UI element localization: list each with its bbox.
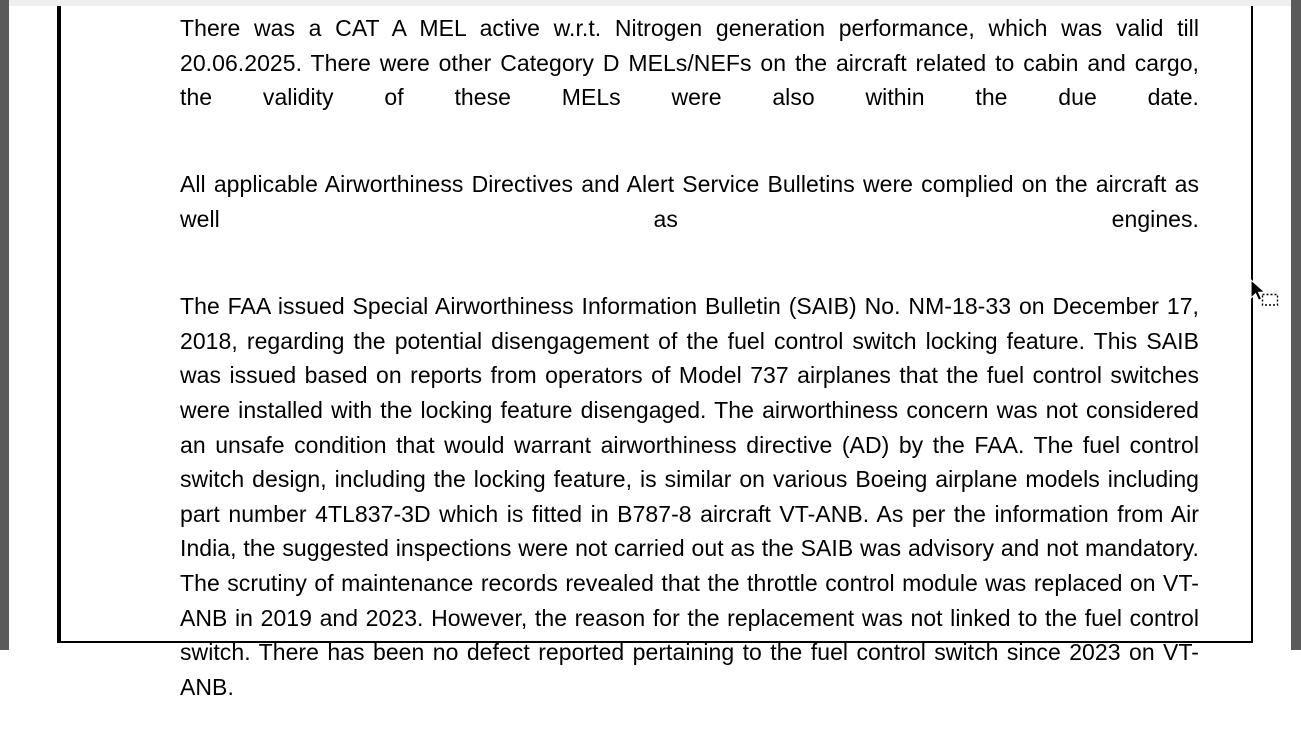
page-body: There was a CAT A MEL active w.r.t. Nitr… — [121, 6, 1251, 641]
document-page[interactable]: There was a CAT A MEL active w.r.t. Nitr… — [9, 6, 1291, 644]
content-frame: There was a CAT A MEL active w.r.t. Nitr… — [57, 6, 1253, 643]
document-viewer[interactable]: There was a CAT A MEL active w.r.t. Nitr… — [0, 0, 1301, 650]
app-background-right — [1291, 0, 1301, 650]
column-divider — [59, 6, 61, 641]
paragraph-saib: The FAA issued Special Airworthiness Inf… — [180, 289, 1199, 739]
paragraph-ad-asb: All applicable Airworthiness Directives … — [180, 167, 1199, 271]
paragraph-mel: There was a CAT A MEL active w.r.t. Nitr… — [180, 11, 1199, 149]
left-margin-cell — [59, 6, 119, 641]
app-background-left — [0, 0, 9, 650]
